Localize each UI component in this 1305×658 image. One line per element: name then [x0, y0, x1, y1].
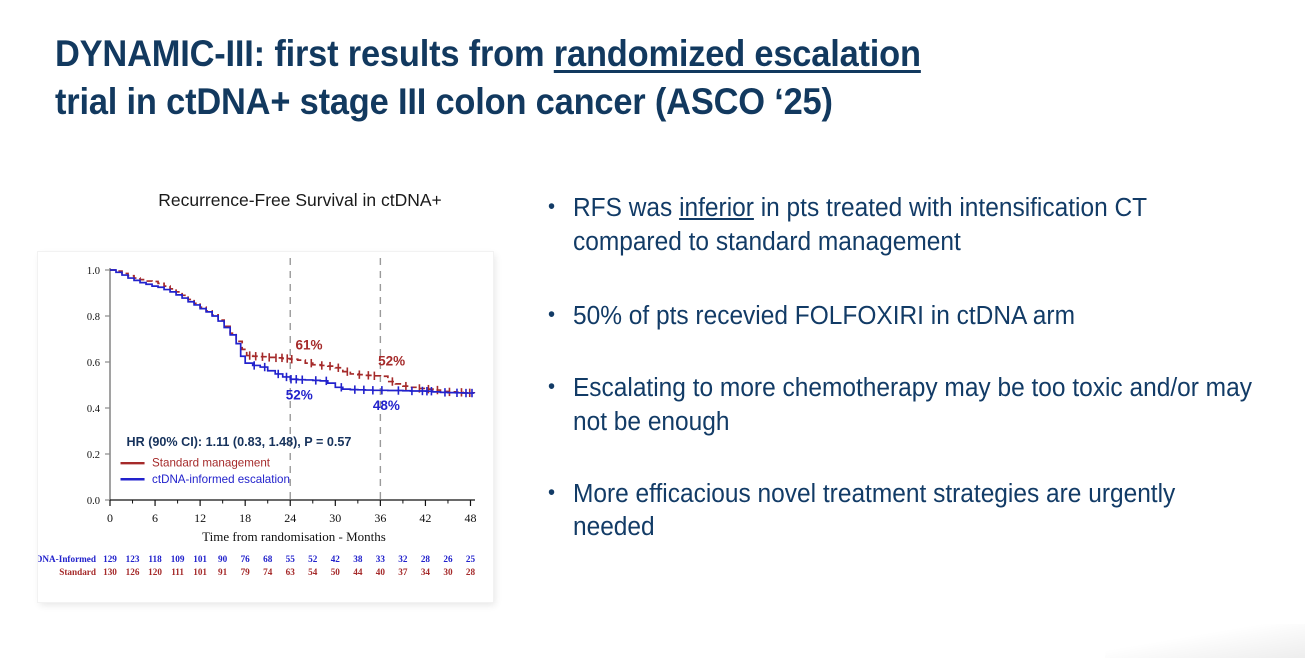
km-curve: [110, 270, 474, 393]
risk-count: 90: [218, 554, 228, 564]
risk-count: 28: [421, 554, 431, 564]
title-line1-underlined: randomized escalation: [554, 33, 921, 74]
risk-count: 30: [443, 567, 453, 577]
title-line2: trial in ctDNA+ stage III colon cancer (…: [55, 81, 833, 122]
value-annotation: 61%: [296, 337, 323, 352]
risk-count: 101: [193, 567, 207, 577]
risk-count: 130: [103, 567, 117, 577]
list-item: • More efficacious novel treatment strat…: [548, 478, 1258, 546]
bullet-text-1: RFS was inferior in pts treated with int…: [573, 192, 1258, 260]
risk-count: 120: [148, 567, 162, 577]
chart-container: Recurrence-Free Survival in ctDNA+ 0.00.…: [38, 190, 498, 610]
list-item: • RFS was inferior in pts treated with i…: [548, 192, 1258, 260]
risk-count: 44: [353, 567, 363, 577]
bullet-marker-icon: •: [548, 478, 573, 508]
bullet-text-2: 50% of pts recevied FOLFOXIRI in ctDNA a…: [573, 300, 1258, 334]
bullet-list: • RFS was inferior in pts treated with i…: [548, 192, 1288, 571]
value-annotation: 52%: [378, 353, 405, 368]
risk-count: 40: [376, 567, 386, 577]
value-annotation: 52%: [286, 387, 313, 402]
hr-annotation: HR (90% CI): 1.11 (0.83, 1.48), P = 0.57: [127, 435, 352, 449]
risk-row-label: Standard: [59, 567, 96, 577]
risk-count: 109: [171, 554, 185, 564]
risk-count: 123: [126, 554, 140, 564]
risk-count: 25: [466, 554, 476, 564]
title-line1-prefix: DYNAMIC-III: first results from: [55, 33, 554, 74]
risk-count: 74: [263, 567, 273, 577]
risk-count: 91: [218, 567, 228, 577]
y-tick-label: 0.4: [87, 404, 101, 415]
list-item: • 50% of pts recevied FOLFOXIRI in ctDNA…: [548, 300, 1258, 334]
risk-count: 126: [126, 567, 140, 577]
x-tick-label: 0: [107, 511, 113, 525]
risk-count: 34: [421, 567, 431, 577]
risk-count: 118: [148, 554, 162, 564]
chart-panel: 0.00.20.40.60.81.0061218243036424861%52%…: [38, 252, 493, 602]
risk-count: 33: [376, 554, 386, 564]
risk-count: 101: [193, 554, 207, 564]
list-item: • Escalating to more chemotherapy may be…: [548, 372, 1258, 440]
series-ctdna: [110, 270, 474, 397]
bullet-marker-icon: •: [548, 372, 573, 402]
slide-corner-shadow: [1105, 624, 1305, 658]
legend-label: ctDNA-informed escalation: [152, 473, 290, 486]
y-tick-label: 0.2: [87, 450, 100, 461]
risk-row-label: ctDNA-Informed: [38, 554, 96, 564]
risk-count: 129: [103, 554, 117, 564]
risk-count: 55: [286, 554, 296, 564]
risk-count: 26: [443, 554, 453, 564]
risk-count: 38: [353, 554, 363, 564]
risk-count: 32: [398, 554, 408, 564]
bullet-text-3: Escalating to more chemotherapy may be t…: [573, 372, 1258, 440]
y-tick-label: 0.6: [87, 358, 100, 369]
bullet-text-4: More efficacious novel treatment strateg…: [573, 478, 1258, 546]
x-tick-label: 6: [152, 511, 158, 525]
x-tick-label: 48: [464, 511, 476, 525]
legend-label: Standard management: [152, 457, 271, 470]
risk-count: 42: [331, 554, 341, 564]
x-tick-label: 18: [239, 511, 251, 525]
x-tick-label: 24: [284, 511, 296, 525]
km-survival-svg: 0.00.20.40.60.81.0061218243036424861%52%…: [38, 252, 493, 602]
x-tick-label: 12: [194, 511, 206, 525]
risk-count: 63: [286, 567, 296, 577]
x-axis-title: Time from randomisation - Months: [202, 529, 386, 544]
slide-canvas: DYNAMIC-III: first results from randomiz…: [0, 0, 1305, 658]
y-tick-label: 1.0: [87, 266, 100, 277]
risk-count: 50: [331, 567, 341, 577]
risk-count: 68: [263, 554, 273, 564]
chart-title: Recurrence-Free Survival in ctDNA+: [100, 190, 500, 211]
y-tick-label: 0.0: [87, 496, 100, 507]
risk-count: 28: [466, 567, 476, 577]
x-tick-label: 30: [329, 511, 341, 525]
x-tick-label: 36: [374, 511, 386, 525]
risk-count: 54: [308, 567, 318, 577]
risk-count: 76: [241, 554, 251, 564]
risk-count: 111: [171, 567, 184, 577]
y-tick-label: 0.8: [87, 312, 100, 323]
risk-count: 52: [308, 554, 318, 564]
bullet-marker-icon: •: [548, 300, 573, 330]
km-plot: 0.00.20.40.60.81.0061218243036424861%52%…: [38, 252, 493, 602]
page-title: DYNAMIC-III: first results from randomiz…: [55, 30, 985, 125]
risk-count: 79: [241, 567, 251, 577]
value-annotation: 48%: [373, 398, 400, 413]
x-tick-label: 42: [419, 511, 431, 525]
risk-count: 37: [398, 567, 408, 577]
bullet-marker-icon: •: [548, 192, 573, 222]
